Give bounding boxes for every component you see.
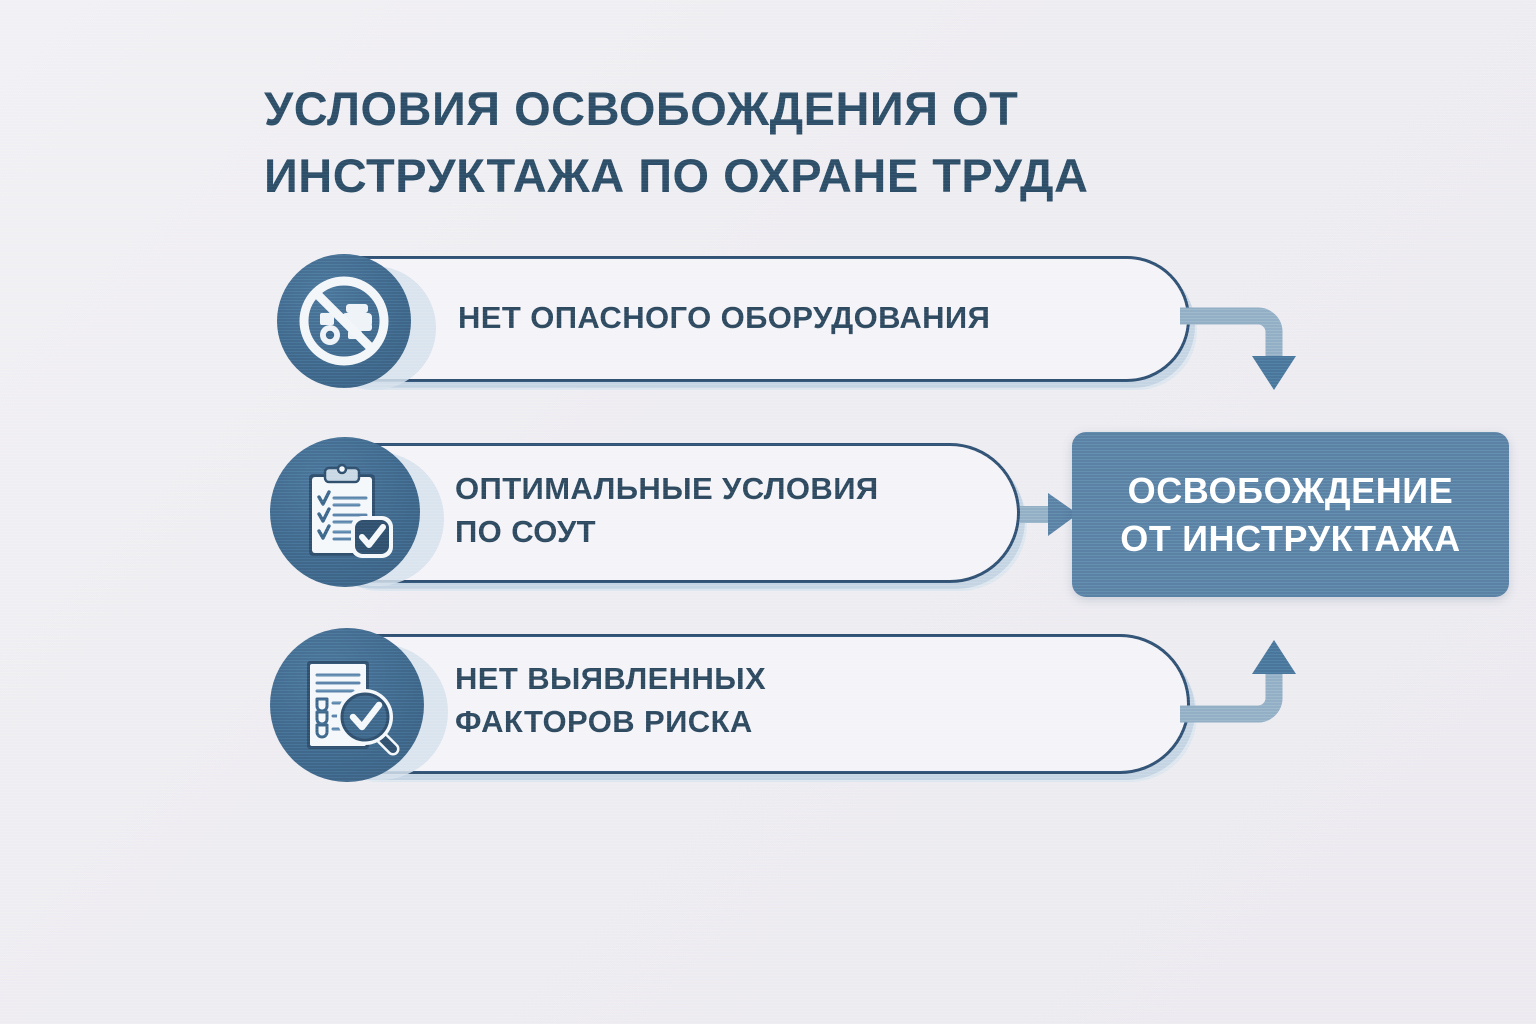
elbow-arrow-up-icon <box>1180 620 1310 730</box>
document-magnifier-check-icon <box>270 628 424 782</box>
no-machinery-prohibition-icon <box>277 254 411 388</box>
result-box-exemption[interactable]: ОСВОБОЖДЕНИЕ ОТ ИНСТРУКТАЖА <box>1072 432 1509 597</box>
page-title: УСЛОВИЯ ОСВОБОЖДЕНИЯ ОТ ИНСТРУКТАЖА ПО О… <box>264 76 1214 209</box>
condition-label-line-1: ОПТИМАЛЬНЫЕ УСЛОВИЯ <box>455 468 995 511</box>
condition-label-line-2: ПО СОУТ <box>455 511 995 554</box>
page-title-line-2: ИНСТРУКТАЖА ПО ОХРАНЕ ТРУДА <box>264 143 1214 210</box>
result-line-2: ОТ ИНСТРУКТАЖА <box>1120 515 1460 563</box>
condition-label-no-dangerous-equipment: НЕТ ОПАСНОГО ОБОРУДОВАНИЯ <box>458 297 990 340</box>
clipboard-checklist-approved-icon <box>270 437 420 587</box>
infographic-canvas: УСЛОВИЯ ОСВОБОЖДЕНИЯ ОТ ИНСТРУКТАЖА ПО О… <box>0 0 1536 1024</box>
condition-label-optimal-sout-conditions: ОПТИМАЛЬНЫЕ УСЛОВИЯ ПО СОУТ <box>455 468 995 554</box>
page-title-line-1: УСЛОВИЯ ОСВОБОЖДЕНИЯ ОТ <box>264 76 1214 143</box>
condition-label-line-1: НЕТ ВЫЯВЛЕННЫХ <box>455 658 995 701</box>
elbow-arrow-down-icon <box>1180 300 1310 410</box>
result-line-1: ОСВОБОЖДЕНИЕ <box>1128 467 1454 515</box>
condition-label-line-2: ФАКТОРОВ РИСКА <box>455 701 995 744</box>
condition-label-no-risk-factors: НЕТ ВЫЯВЛЕННЫХ ФАКТОРОВ РИСКА <box>455 658 995 744</box>
